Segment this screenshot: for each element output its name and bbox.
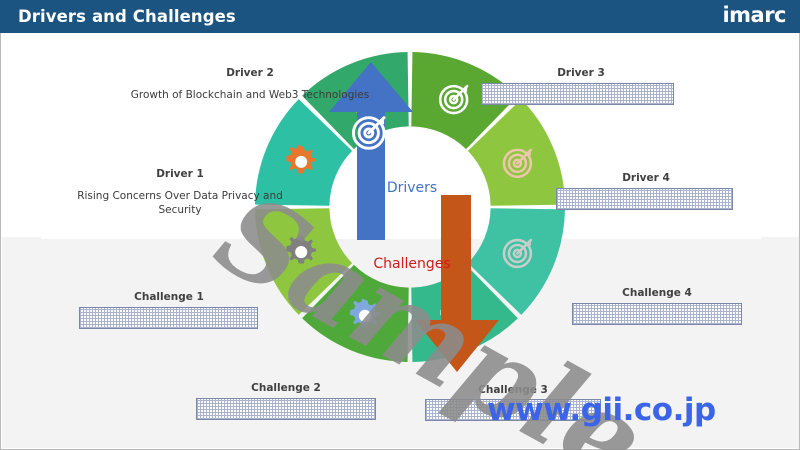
target-icon [353, 118, 384, 149]
challenge-1-placeholder[interactable] [79, 307, 258, 329]
slide-root: Drivers and Challenges imarc [0, 0, 800, 450]
challenge-3-title: Challenge 3 [425, 384, 601, 396]
challenge-2-placeholder[interactable] [196, 398, 376, 420]
imarc-logo: imarc [722, 3, 786, 27]
driver-3-placeholder[interactable] [481, 83, 674, 105]
challenge-2-title: Challenge 2 [196, 382, 376, 394]
challenge-3-placeholder[interactable] [425, 399, 601, 421]
challenge-1-title: Challenge 1 [79, 291, 259, 303]
driver-4-title: Driver 4 [556, 172, 736, 184]
driver-4-placeholder[interactable] [556, 188, 733, 210]
driver-3-title: Driver 3 [481, 67, 681, 79]
header-band: Drivers and Challenges imarc [0, 0, 800, 33]
challenge-4-placeholder[interactable] [572, 303, 742, 325]
driver-1-text: Rising Concerns Over Data Privacy and Se… [70, 189, 290, 217]
page-title: Drivers and Challenges [18, 7, 236, 26]
center-label-challenges: Challenges [352, 256, 472, 272]
driver-2-title: Driver 2 [150, 67, 350, 79]
center-label-drivers: Drivers [367, 180, 457, 196]
challenge-4-title: Challenge 4 [572, 287, 742, 299]
driver-2-text: Growth of Blockchain and Web3 Technologi… [130, 88, 370, 102]
driver-1-title: Driver 1 [80, 168, 280, 180]
down-arrow [415, 195, 499, 372]
